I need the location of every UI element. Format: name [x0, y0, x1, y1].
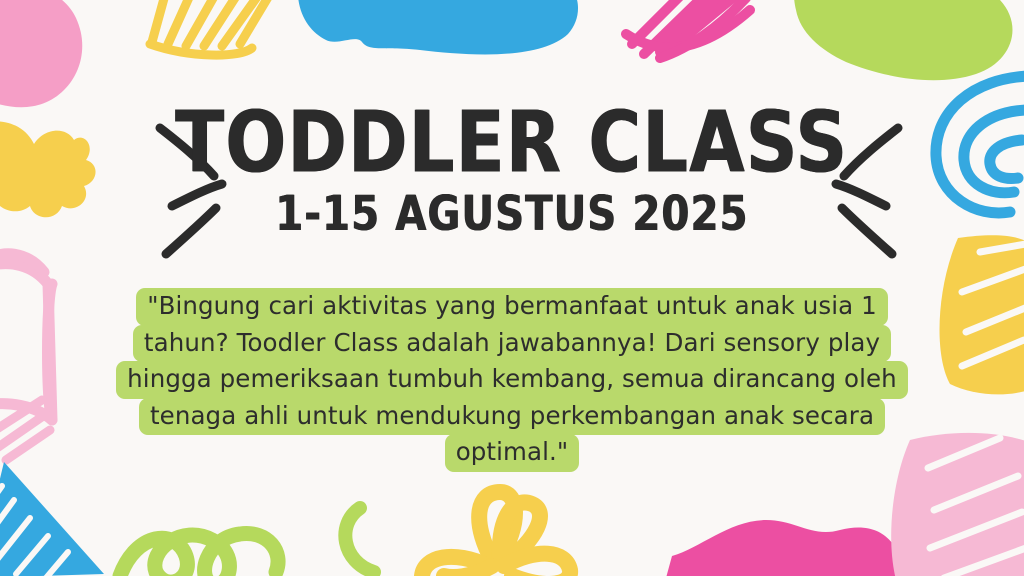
blue-blob-top-center-icon: [298, 0, 578, 54]
green-loops-bottom-icon: [120, 534, 278, 576]
poster-canvas: TODDLER CLASS 1-15 AGUSTUS 2025 "Bingung…: [0, 0, 1024, 576]
title-row: TODDLER CLASS: [172, 108, 852, 177]
hot-pink-blob-bottom-icon: [660, 520, 906, 576]
quote-block: "Bingung cari aktivitas yang bermanfaat …: [0, 288, 1024, 472]
green-blob-top-right-icon: [794, 0, 1013, 80]
page-subtitle: 1-15 AGUSTUS 2025: [275, 187, 748, 242]
quote-line: "Bingung cari aktivitas yang bermanfaat …: [136, 288, 888, 326]
green-arc-bottom-icon: [345, 508, 374, 572]
yellow-fan-top-left-icon: [150, 0, 276, 55]
pink-blob-top-left-icon: [0, 0, 82, 107]
quote-line: hingga pemeriksaan tumbuh kembang, semua…: [116, 361, 908, 399]
yellow-flower-bottom-icon: [422, 492, 570, 576]
quote-line: tenaga ahli untuk mendukung perkembangan…: [139, 398, 885, 436]
pink-scribble-top-right-icon: [626, 0, 752, 58]
headline-group: TODDLER CLASS 1-15 AGUSTUS 2025: [0, 108, 1024, 233]
page-title: TODDLER CLASS: [175, 102, 848, 184]
blue-triangle-bottom-left-icon: [0, 462, 104, 576]
quote-line: optimal.": [445, 434, 580, 472]
quote-line: tahun? Toodler Class adalah jawabannya! …: [133, 325, 891, 363]
